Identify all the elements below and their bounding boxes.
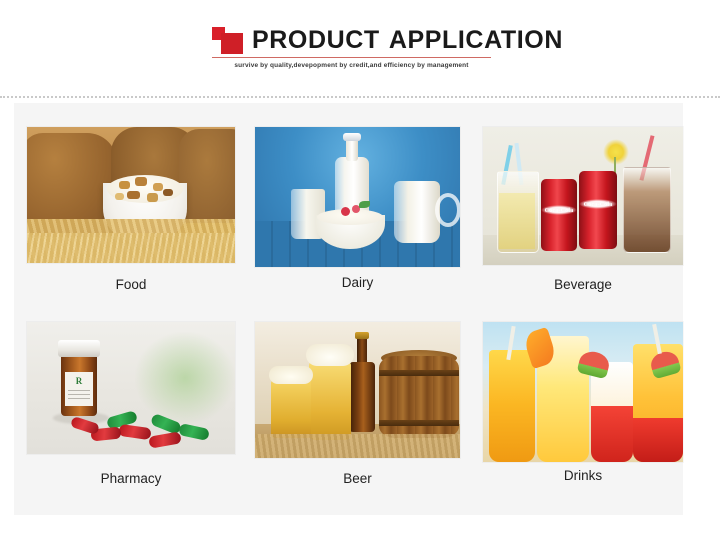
cereal-flake [147, 193, 158, 202]
mint-leaf-garnish [359, 201, 370, 208]
gallery-caption-drinks: Drinks [483, 468, 683, 483]
gallery-caption-food: Food [27, 277, 235, 292]
product-application-panel: Food Dairy [14, 103, 683, 515]
cereal-flake [135, 177, 147, 186]
page-title-secondary: APPLICATION [389, 26, 563, 54]
medicine-bottle-cap [58, 340, 100, 357]
page-title: PRODUCTAPPLICATION [252, 25, 563, 55]
gallery-item-beer[interactable]: Beer [255, 322, 460, 486]
beverage-thumbnail[interactable]: Coca-Cola Coca-Cola [483, 127, 683, 265]
beer-mug [271, 380, 311, 438]
milk-bottle-cap [343, 133, 361, 141]
red-juice-layer-left [591, 406, 633, 462]
prescription-mark: R [65, 376, 93, 386]
gallery-item-pharmacy[interactable]: R Pharmacy [27, 322, 235, 486]
beer-bottle [349, 362, 375, 432]
medicine-bottle-label: R [65, 372, 93, 406]
cereal-flake [127, 191, 140, 199]
dairy-thumbnail[interactable] [255, 127, 460, 267]
cereal-flake [153, 183, 163, 191]
beer-foam-mug [269, 366, 313, 384]
gallery-item-beverage[interactable]: Coca-Cola Coca-Cola Beverage [483, 127, 683, 292]
green-bokeh-background [135, 332, 235, 424]
drinks-thumbnail[interactable] [483, 322, 683, 462]
gallery-caption-beverage: Beverage [483, 277, 683, 292]
berry-garnish [341, 207, 350, 216]
beer-bottle-cap [355, 332, 369, 339]
pharmacy-thumbnail[interactable]: R [27, 322, 235, 454]
page-header: PRODUCTAPPLICATION survive by quality,de… [0, 0, 720, 97]
cereal-flake [163, 189, 173, 196]
beer-glass-tall [309, 362, 351, 440]
wheat-stalks-layer-front [27, 233, 235, 263]
gallery-caption-dairy: Dairy [255, 275, 460, 290]
gallery-item-food[interactable]: Food [27, 127, 235, 292]
barley-grains [255, 434, 460, 458]
juice-glass-orange [489, 350, 535, 462]
beer-foam-tall [306, 344, 354, 366]
iced-cola-glass [623, 167, 671, 253]
cola-can-left-brand: Coca-Cola [541, 208, 577, 214]
food-thumbnail[interactable] [27, 127, 235, 263]
beer-bottle-neck [357, 336, 367, 364]
cola-can-right-brand: Coca-Cola [579, 202, 617, 208]
lemonade-liquid [499, 193, 535, 249]
cola-can-right: Coca-Cola [579, 171, 617, 249]
page-title-primary: PRODUCT [252, 26, 380, 54]
red-squares-logo-icon [212, 23, 246, 55]
beer-thumbnail[interactable] [255, 322, 460, 458]
gallery-caption-beer: Beer [255, 471, 460, 486]
header-divider [0, 96, 720, 98]
yogurt-bowl-contents [317, 209, 383, 225]
cola-can-left: Coca-Cola [541, 179, 577, 251]
red-juice-layer-right [633, 418, 683, 462]
application-grid: Food Dairy [14, 103, 683, 515]
barrel-hoop-upper [379, 370, 459, 376]
milk-jug [394, 181, 440, 243]
logo-square-large [221, 33, 243, 54]
brand-row: PRODUCTAPPLICATION [212, 21, 492, 55]
gallery-item-drinks[interactable]: Drinks [483, 322, 683, 483]
cereal-flake [119, 181, 130, 189]
yellow-flower-decor [603, 139, 629, 165]
barrel-hoop-lower [379, 420, 459, 426]
gallery-item-dairy[interactable]: Dairy [255, 127, 460, 290]
title-underline-rule [212, 57, 491, 58]
cereal-flake [115, 193, 124, 200]
brand-tagline: survive by quality,devepopment by credit… [212, 62, 491, 69]
gallery-caption-pharmacy: Pharmacy [27, 471, 235, 486]
brand-lockup: PRODUCTAPPLICATION survive by quality,de… [212, 21, 492, 69]
milk-jug-handle [435, 193, 460, 227]
